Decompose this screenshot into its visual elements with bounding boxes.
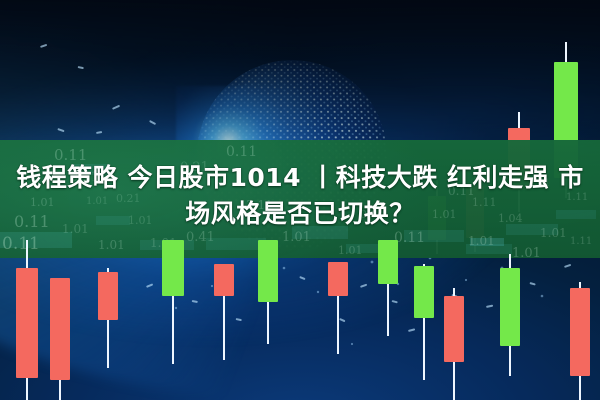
candle-body bbox=[378, 240, 398, 284]
page-title: 钱程策略 今日股市1014 丨科技大跌 红利走强 市 场风格是否已切换？ bbox=[0, 160, 600, 232]
candle-body bbox=[414, 266, 434, 318]
title-line-2: 场风格是否已切换？ bbox=[10, 196, 590, 232]
title-line-1: 钱程策略 今日股市1014 丨科技大跌 红利走强 市 bbox=[10, 160, 590, 196]
candle-body bbox=[444, 296, 464, 362]
candle-body bbox=[328, 262, 348, 296]
candle-body bbox=[500, 268, 520, 346]
candle-body bbox=[98, 272, 118, 320]
candle-body bbox=[162, 240, 184, 296]
candle-body bbox=[258, 240, 278, 302]
cover-image: 0.110.211.010.110.111.011.011.010.211.01… bbox=[0, 0, 600, 400]
candle-body bbox=[570, 288, 590, 376]
candle-body bbox=[214, 264, 234, 296]
candle-body bbox=[50, 278, 70, 380]
candle-body bbox=[16, 268, 38, 378]
